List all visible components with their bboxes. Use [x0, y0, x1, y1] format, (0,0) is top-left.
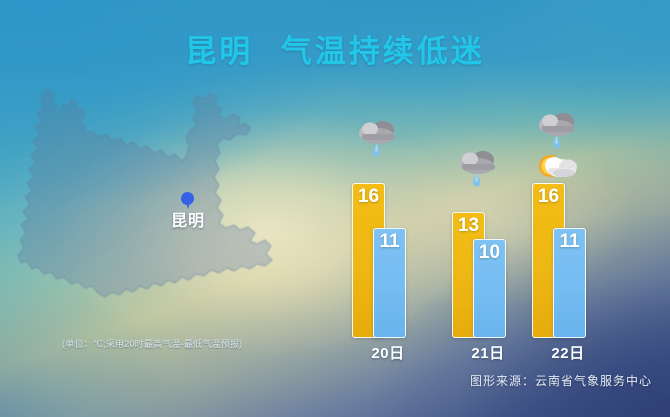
unit-note: (单位：℃;采用20时最高气温-最低气温预报): [62, 337, 242, 350]
weather-infographic: 昆明 气温持续低迷 昆明 (单位：℃;采用20时最高气温-最低气: [0, 0, 670, 417]
low-temp-bar: 10: [473, 239, 506, 338]
temperature-bar-chart: 16 11 20日: [336, 108, 656, 363]
day-group-20: 16 11 20日: [340, 108, 436, 363]
bars-22: 16 11: [532, 143, 604, 338]
low-temp-bar: 11: [373, 228, 406, 338]
day-group-22: 16 11 22日: [520, 108, 616, 363]
low-temp-value: 11: [374, 232, 405, 252]
map-city-label: 昆明: [161, 207, 215, 231]
high-temp-value: 16: [353, 187, 384, 207]
low-temp-value: 11: [554, 232, 585, 252]
map-container: 昆明: [14, 78, 334, 340]
high-temp-value: 13: [453, 216, 484, 236]
bars-20: 16 11: [352, 143, 424, 338]
day-label: 22日: [520, 342, 616, 363]
day-label: 20日: [340, 342, 436, 363]
low-temp-bar: 11: [553, 228, 586, 338]
high-temp-value: 16: [533, 187, 564, 207]
page-title: 昆明 气温持续低迷: [0, 26, 670, 71]
source-attribution: 图形来源：云南省气象服务中心: [470, 372, 652, 389]
bars-21: 13 10: [452, 143, 524, 338]
pin-head: [181, 192, 194, 205]
low-temp-value: 10: [474, 243, 505, 263]
